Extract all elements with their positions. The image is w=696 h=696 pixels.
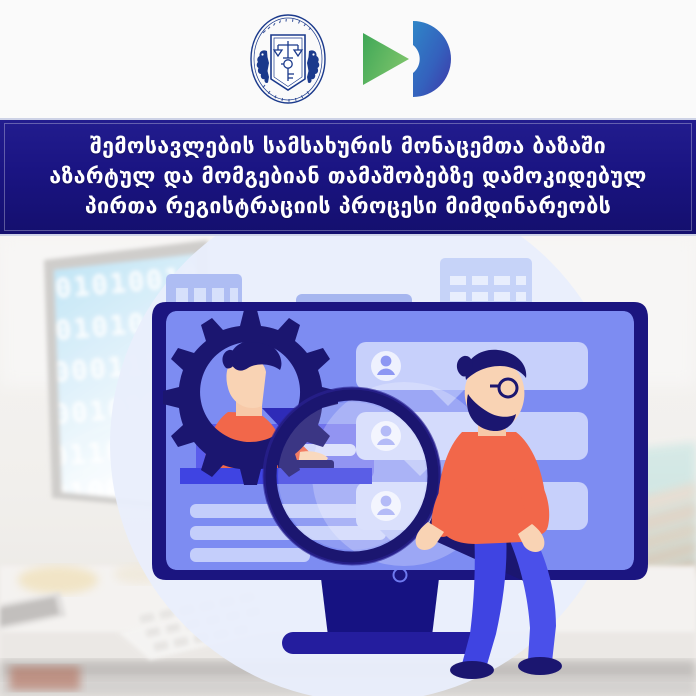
illustration-stage: 010100101000 010101011010 000111010010 0… xyxy=(0,236,696,696)
logo-band xyxy=(0,0,696,118)
announcement-banner: შემოსავლების სამსახურის მონაცემთა ბაზაში… xyxy=(0,118,696,236)
person-icon xyxy=(381,356,392,367)
banner-line-3: პირთა რეგისტრაციის პროცესი მიმდინარეობს xyxy=(85,192,611,222)
banner-line-1: შემოსავლების სამსახურის მონაცემთა ბაზაში xyxy=(90,132,606,162)
poster-root: შემოსავლების სამსახურის მონაცემთა ბაზაში… xyxy=(0,0,696,696)
illustration-scene: 010100101000 010101011010 000111010010 0… xyxy=(0,236,696,696)
ministry-of-finance-emblem xyxy=(245,11,331,107)
revenue-service-logo xyxy=(357,17,451,101)
text-line xyxy=(190,548,310,562)
banner-line-2: აზარტულ და მომგებიან თამაშობებზე დამოკიდ… xyxy=(49,162,646,192)
